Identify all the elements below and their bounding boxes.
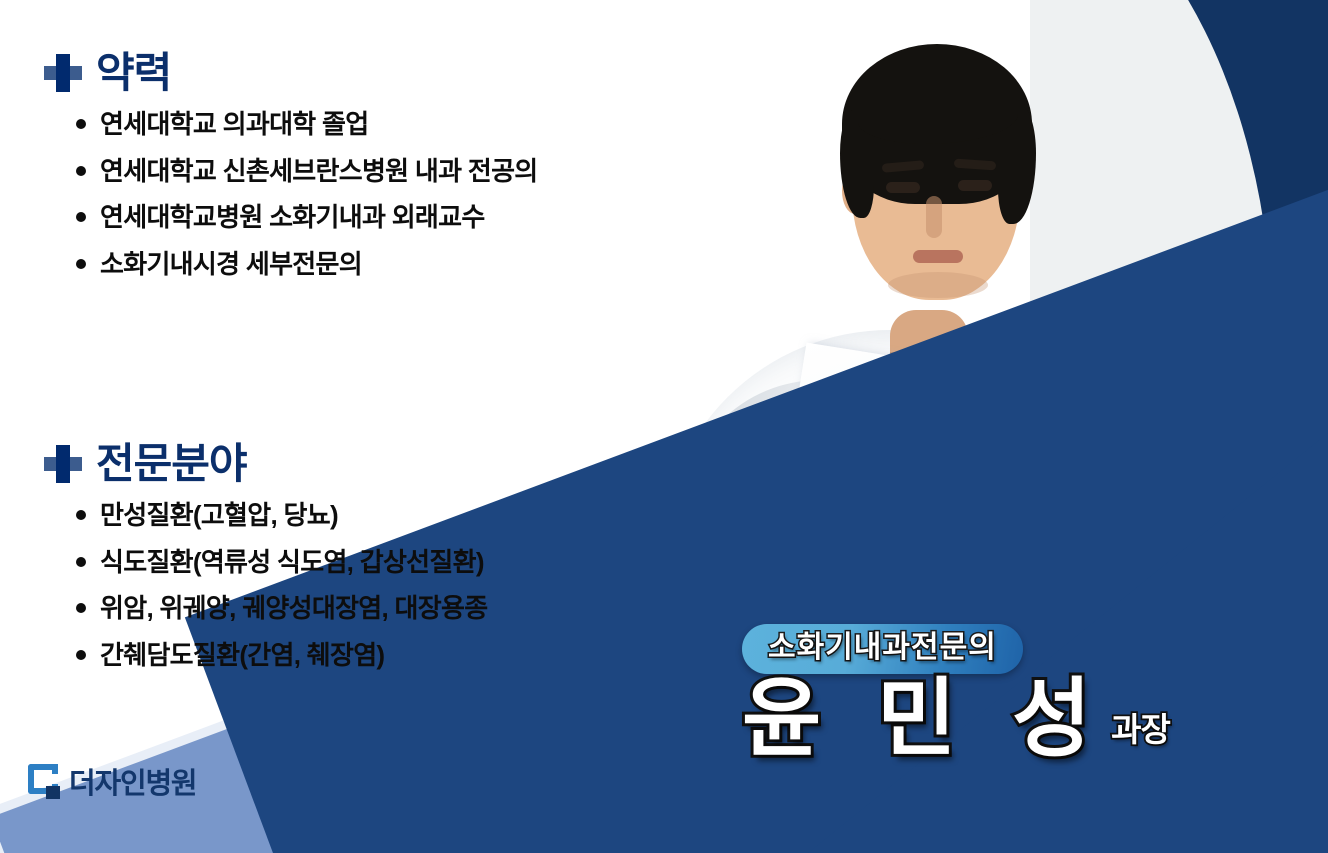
list-item: 연세대학교 의과대학 졸업 [76,108,538,141]
list-item: 만성질환(고혈압, 당뇨) [76,499,487,532]
coat-hospital-logo-front: 더자인병원 [925,494,1000,516]
bullet-icon [76,603,86,613]
doctor-name-row: 윤 민 성 과장 [742,676,1170,764]
specialty-heading-row: 전문분야 [44,443,487,485]
career-item-text: 연세대학교병원 소화기내과 외래교수 [100,201,485,234]
specialty-item-text: 위암, 위궤양, 궤양성대장염, 대장용종 [100,592,487,625]
nose [926,196,942,238]
doctor-name: 윤 민 성 [742,676,1107,764]
profile-text-content: 약력 연세대학교 의과대학 졸업 연세대학교 신촌세브란스병원 내과 전공의 연… [0,0,760,853]
mouth [913,250,963,263]
doctor-nameplate: 소화기내과전문의 윤 민 성 과장 [742,624,1170,763]
list-item: 소화기내시경 세부전문의 [76,248,538,281]
bullet-icon [76,510,86,520]
specialty-badge: 소화기내과전문의 [742,624,1023,674]
eye-left [886,182,920,193]
list-item: 식도질환(역류성 식도염, 갑상선질환) [76,546,487,579]
specialty-list: 만성질환(고혈압, 당뇨) 식도질환(역류성 식도염, 갑상선질환) 위암, 위… [44,499,487,671]
hospital-brand-name: 더자인병원 [69,760,196,802]
list-item: 간췌담도질환(간염, 췌장염) [76,639,487,672]
doctor-title: 과장 [1111,703,1170,751]
career-heading: 약력 [96,52,171,94]
doctor-profile-card: 더자인병원 더자인병원 약력 연세대학교 의과대학 졸업 [0,0,1328,853]
list-item: 연세대학교 신촌세브란스병원 내과 전공의 [76,155,538,188]
coat-logo-text: 더자인병원 [940,494,1000,515]
career-item-text: 연세대학교 의과대학 졸업 [100,108,368,141]
hospital-mark-icon [26,764,56,798]
hospital-brand-logo: 더자인병원 [26,760,196,802]
specialty-heading: 전문분야 [96,443,247,485]
bullet-icon [76,259,86,269]
eye-right [958,180,992,191]
plus-icon [44,445,82,483]
career-list: 연세대학교 의과대학 졸업 연세대학교 신촌세브란스병원 내과 전공의 연세대학… [44,108,538,280]
chin-shadow [888,272,988,298]
bullet-icon [76,212,86,222]
specialty-item-text: 간췌담도질환(간염, 췌장염) [100,639,384,672]
bullet-icon [76,166,86,176]
career-section: 약력 연세대학교 의과대학 졸업 연세대학교 신촌세브란스병원 내과 전공의 연… [44,52,538,294]
list-item: 위암, 위궤양, 궤양성대장염, 대장용종 [76,592,487,625]
list-item: 연세대학교병원 소화기내과 외래교수 [76,201,538,234]
bullet-icon [76,557,86,567]
bullet-icon [76,650,86,660]
specialty-item-text: 식도질환(역류성 식도염, 갑상선질환) [100,546,484,579]
career-item-text: 연세대학교 신촌세브란스병원 내과 전공의 [100,155,538,188]
specialty-section: 전문분야 만성질환(고혈압, 당뇨) 식도질환(역류성 식도염, 갑상선질환) … [44,443,487,685]
career-heading-row: 약력 [44,52,538,94]
bullet-icon [76,119,86,129]
plus-icon [44,54,82,92]
hospital-mark-icon [925,499,936,512]
career-item-text: 소화기내시경 세부전문의 [100,248,362,281]
specialty-item-text: 만성질환(고혈압, 당뇨) [100,499,338,532]
